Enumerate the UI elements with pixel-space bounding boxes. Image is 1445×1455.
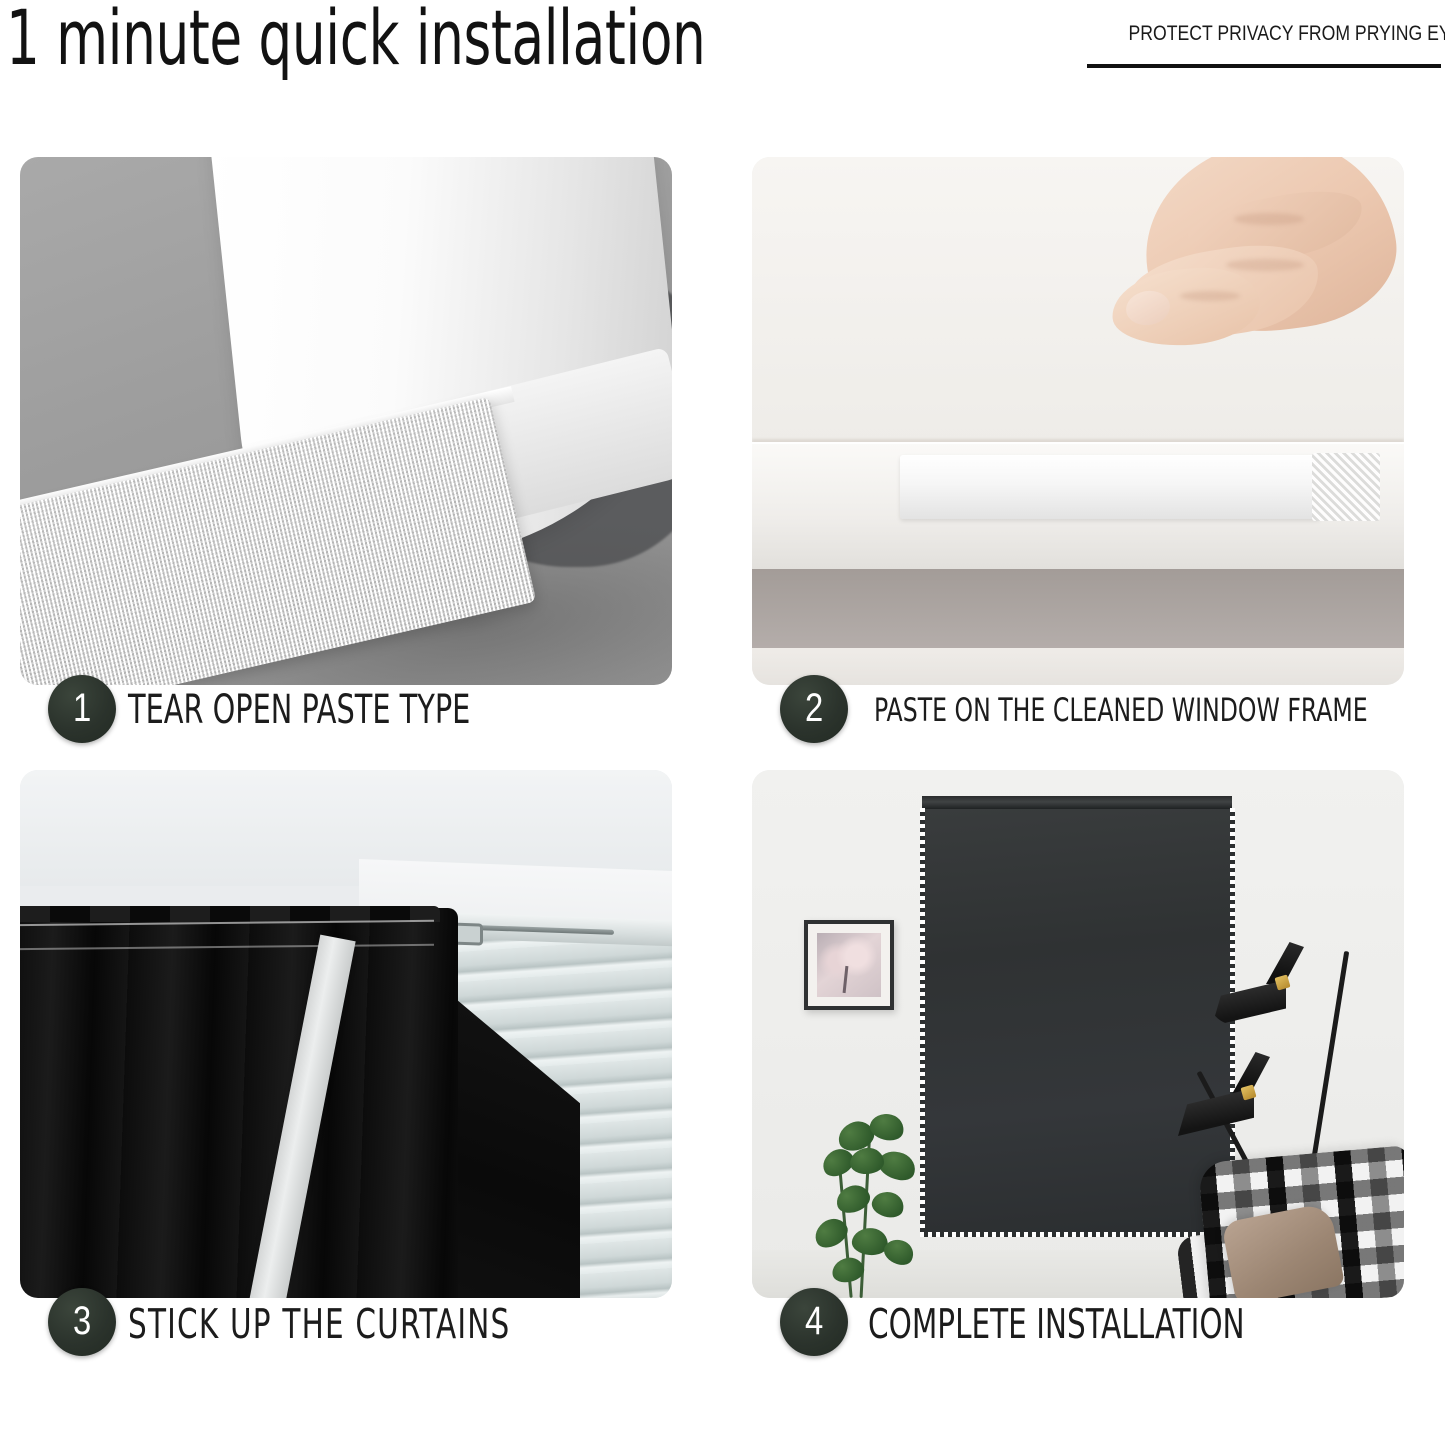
tagline-text: PROTECT PRIVACY FROM PRYING EYES	[1129, 22, 1441, 46]
step-badge-4: 4	[780, 1288, 848, 1356]
step-caption-row-3: 3 STICK UP THE CURTAINS	[20, 1282, 672, 1360]
step-card-4: 4 COMPLETE INSTALLATION	[752, 770, 1404, 1360]
step-photo-2	[752, 157, 1404, 685]
step-caption-row-2: 2 PASTE ON THE CLEANED WINDOW FRAME	[752, 669, 1404, 747]
step-caption-row-4: 4 COMPLETE INSTALLATION	[752, 1282, 1404, 1360]
step-caption: STICK UP THE CURTAINS	[128, 1300, 510, 1348]
step-caption: COMPLETE INSTALLATION	[868, 1300, 1245, 1348]
steps-grid: 1 TEAR OPEN PASTE TYPE	[0, 150, 1445, 1455]
step-card-2: 2 PASTE ON THE CLEANED WINDOW FRAME	[752, 157, 1404, 747]
lamp-brass-collar	[1274, 974, 1290, 990]
tagline-block: PROTECT PRIVACY FROM PRYING EYES	[1069, 22, 1441, 46]
step-photo-1	[20, 157, 672, 685]
hand	[1084, 157, 1404, 431]
knuckle-crease	[1234, 213, 1304, 225]
knuckle-crease	[1226, 259, 1304, 271]
lamp-shade-upper	[1212, 980, 1286, 1026]
plant-leaf	[869, 1188, 907, 1221]
step-caption: PASTE ON THE CLEANED WINDOW FRAME	[874, 691, 1368, 729]
step-card-1: 1 TEAR OPEN PASTE TYPE	[20, 157, 672, 747]
blackout-curtain	[20, 908, 458, 1298]
blind-top-rail	[922, 796, 1232, 809]
knuckle-crease	[1180, 291, 1240, 301]
step-caption-row-1: 1 TEAR OPEN PASTE TYPE	[20, 669, 672, 747]
potted-plant	[792, 1108, 942, 1298]
page-title: 1 minute quick installation	[6, 0, 705, 85]
lamp-brass-collar	[1240, 1084, 1256, 1100]
step-number: 2	[805, 688, 823, 728]
tagline-underline	[1087, 64, 1441, 68]
adhesive-strip	[900, 455, 1320, 519]
floral-art-image	[817, 933, 881, 997]
step-number: 1	[73, 688, 91, 728]
wall-lower	[752, 569, 1404, 648]
framed-artwork	[804, 920, 894, 1010]
plant-leaf	[849, 1147, 885, 1175]
step-photo-4	[752, 770, 1404, 1298]
step-badge-3: 3	[48, 1288, 116, 1356]
page-header: 1 minute quick installation PROTECT PRIV…	[0, 0, 1445, 150]
art-mat	[808, 924, 890, 1006]
art-stem	[842, 966, 848, 993]
velcro-patch	[1312, 453, 1380, 521]
step-caption: TEAR OPEN PASTE TYPE	[128, 687, 470, 733]
step-badge-2: 2	[780, 675, 848, 743]
step-card-3: 3 STICK UP THE CURTAINS	[20, 770, 672, 1360]
step-number: 3	[73, 1301, 91, 1341]
step-badge-1: 1	[48, 675, 116, 743]
step-photo-3	[20, 770, 672, 1298]
step-number: 4	[805, 1301, 823, 1341]
